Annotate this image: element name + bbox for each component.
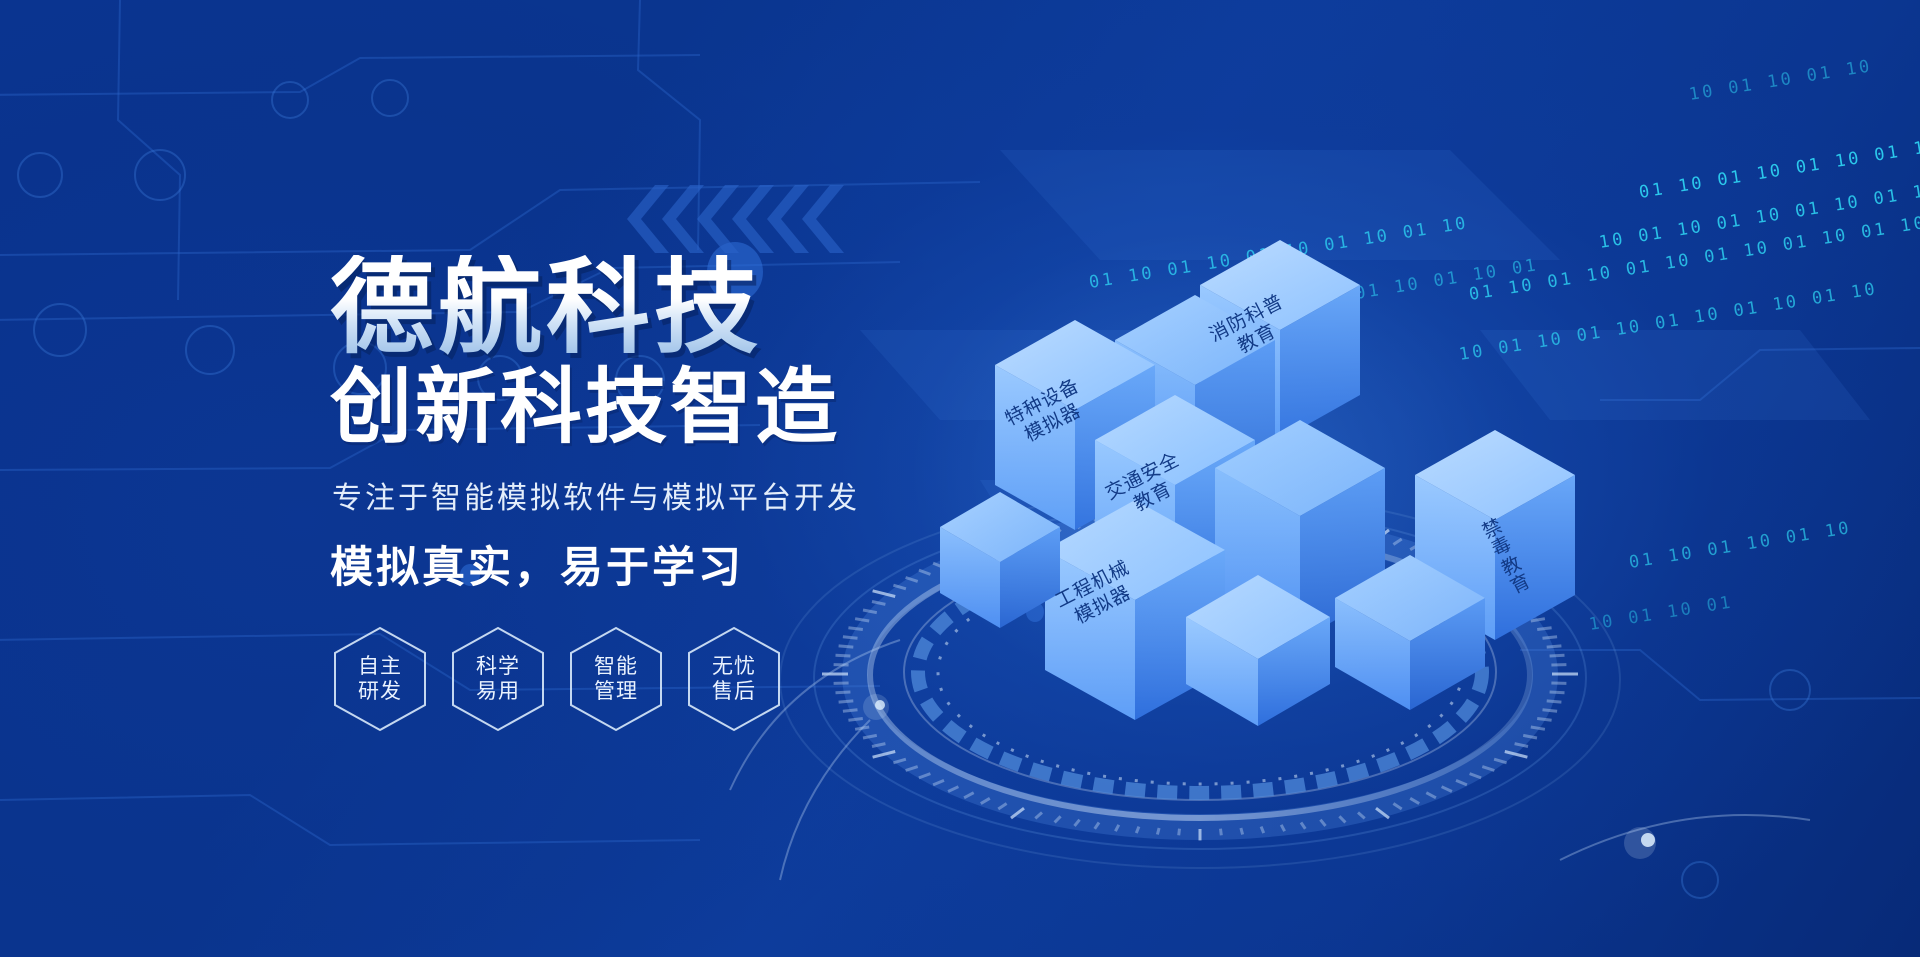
badge-line2: 管理 [594,679,638,704]
hero-text-block: 德航科技 创新科技智造 专注于智能模拟软件与模拟平台开发 模拟真实，易于学习 自… [330,255,970,733]
hero-subtitle: 专注于智能模拟软件与模拟平台开发 [332,473,970,517]
feature-badges: 自主 研发 科学 易用 智能 管理 [332,625,970,733]
badge-self-research[interactable]: 自主 研发 [332,625,428,733]
brand-title: 德航科技 [330,255,970,359]
badge-line1: 科学 [476,654,520,679]
badge-line1: 智能 [594,654,638,679]
badge-line1: 自主 [358,654,402,679]
hero-banner: 01 10 01 10 01 10 01 10 01 10 10 01 10 0… [0,0,1920,957]
badge-line2: 易用 [476,679,520,704]
badge-line1: 无忧 [712,654,756,679]
hero-slogan: 模拟真实，易于学习 [330,533,970,595]
svg-text:01 10 01 10 01 10: 01 10 01 10 01 10 [1628,518,1853,573]
badge-line2: 研发 [358,679,402,704]
badge-smart-management[interactable]: 智能 管理 [568,625,664,733]
badge-worryfree-service[interactable]: 无忧 售后 [686,625,782,733]
svg-text:10 01 10 01: 10 01 10 01 [1588,592,1735,635]
badge-scientific-easy[interactable]: 科学 易用 [450,625,546,733]
badge-line2: 售后 [712,679,756,704]
page-headline: 创新科技智造 [330,365,970,451]
isometric-cube-stack [910,230,1575,726]
svg-text:10 01 10 01 10: 10 01 10 01 10 [1688,56,1874,105]
